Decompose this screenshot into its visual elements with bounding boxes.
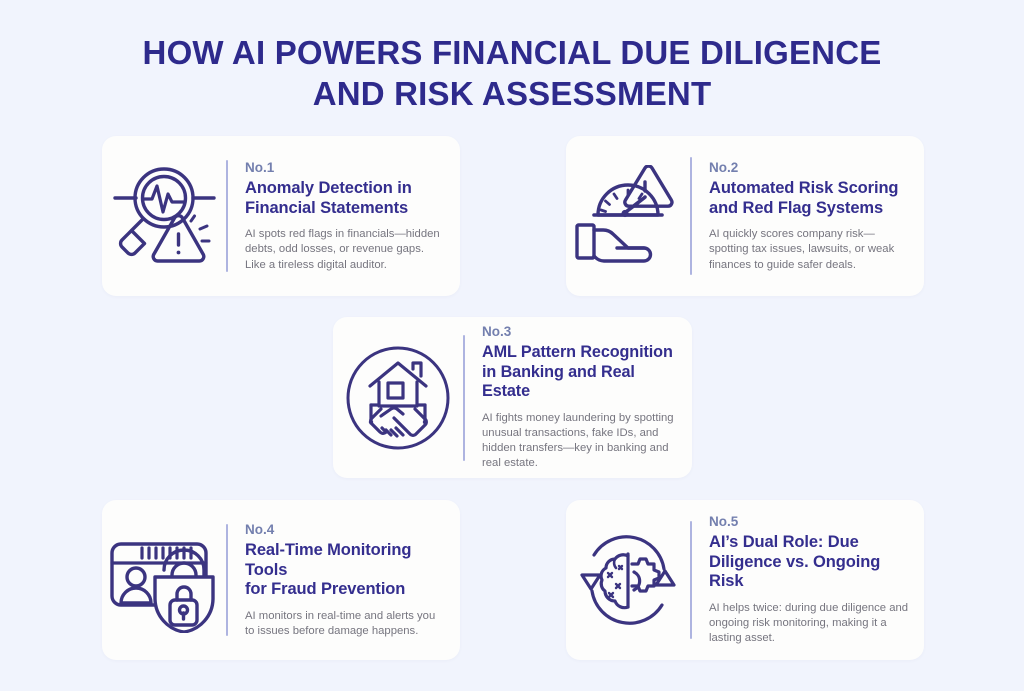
card-body: No.4 Real-Time Monitoring Tools for Frau… (228, 521, 460, 639)
infographic-page: HOW AI POWERS FINANCIAL DUE DILIGENCE AN… (0, 0, 1024, 691)
info-card-3: No.3 AML Pattern Recognition in Banking … (333, 317, 692, 478)
card-description: AI helps twice: during due diligence and… (709, 601, 910, 647)
page-title-line-2: AND RISK ASSESSMENT (0, 73, 1024, 114)
card-title-line-1: Real-Time Monitoring Tools (245, 541, 411, 579)
card-number: No.5 (709, 513, 910, 531)
info-card-1: No.1 Anomaly Detection in Financial Stat… (102, 136, 460, 296)
card-body: No.3 AML Pattern Recognition in Banking … (465, 323, 692, 471)
card-description: AI quickly scores company risk—spotting … (709, 227, 910, 273)
card-title-line-1: AI’s Dual Role: Due (709, 533, 859, 551)
card-description: AI spots red flags in financials—hidden … (245, 227, 446, 273)
info-card-2: No.2 Automated Risk Scoring and Red Flag… (566, 136, 924, 296)
card-body: No.5 AI’s Dual Role: Due Diligence vs. O… (692, 513, 924, 646)
card-number: No.1 (245, 159, 446, 177)
brain-gear-cycle-icon (566, 528, 690, 632)
card-title: Automated Risk Scoring and Red Flag Syst… (709, 179, 910, 218)
page-title: HOW AI POWERS FINANCIAL DUE DILIGENCE AN… (0, 32, 1024, 114)
card-title-line-1: Automated Risk Scoring (709, 179, 898, 197)
card-description: AI fights money laundering by spotting u… (482, 411, 678, 472)
card-title-line-2: Financial Statements (245, 199, 408, 217)
card-title: AI’s Dual Role: Due Diligence vs. Ongoin… (709, 533, 910, 592)
card-number: No.2 (709, 159, 910, 177)
card-body: No.2 Automated Risk Scoring and Red Flag… (692, 159, 924, 273)
house-handshake-circle-icon (333, 343, 463, 453)
card-title-line-1: Anomaly Detection in (245, 179, 412, 197)
card-title: Real-Time Monitoring Tools for Fraud Pre… (245, 541, 446, 600)
card-title-line-2: in Banking and Real Estate (482, 363, 635, 401)
card-title-line-2: Diligence vs. Ongoing Risk (709, 553, 880, 591)
card-body: No.1 Anomaly Detection in Financial Stat… (228, 159, 460, 273)
card-description: AI monitors in real-time and alerts you … (245, 609, 446, 639)
card-title: AML Pattern Recognition in Banking and R… (482, 343, 678, 402)
card-title-line-1: AML Pattern Recognition (482, 343, 673, 361)
info-card-4: No.4 Real-Time Monitoring Tools for Frau… (102, 500, 460, 660)
card-title: Anomaly Detection in Financial Statement… (245, 179, 446, 218)
info-card-5: No.5 AI’s Dual Role: Due Diligence vs. O… (566, 500, 924, 660)
id-window-shield-lock-icon (102, 527, 226, 633)
card-number: No.4 (245, 521, 446, 539)
card-title-line-2: for Fraud Prevention (245, 580, 405, 598)
card-number: No.3 (482, 323, 678, 341)
card-title-line-2: and Red Flag Systems (709, 199, 883, 217)
hand-gauge-warning-icon (566, 165, 690, 267)
page-title-line-1: HOW AI POWERS FINANCIAL DUE DILIGENCE (0, 32, 1024, 73)
magnifier-pulse-warning-icon (102, 164, 226, 268)
